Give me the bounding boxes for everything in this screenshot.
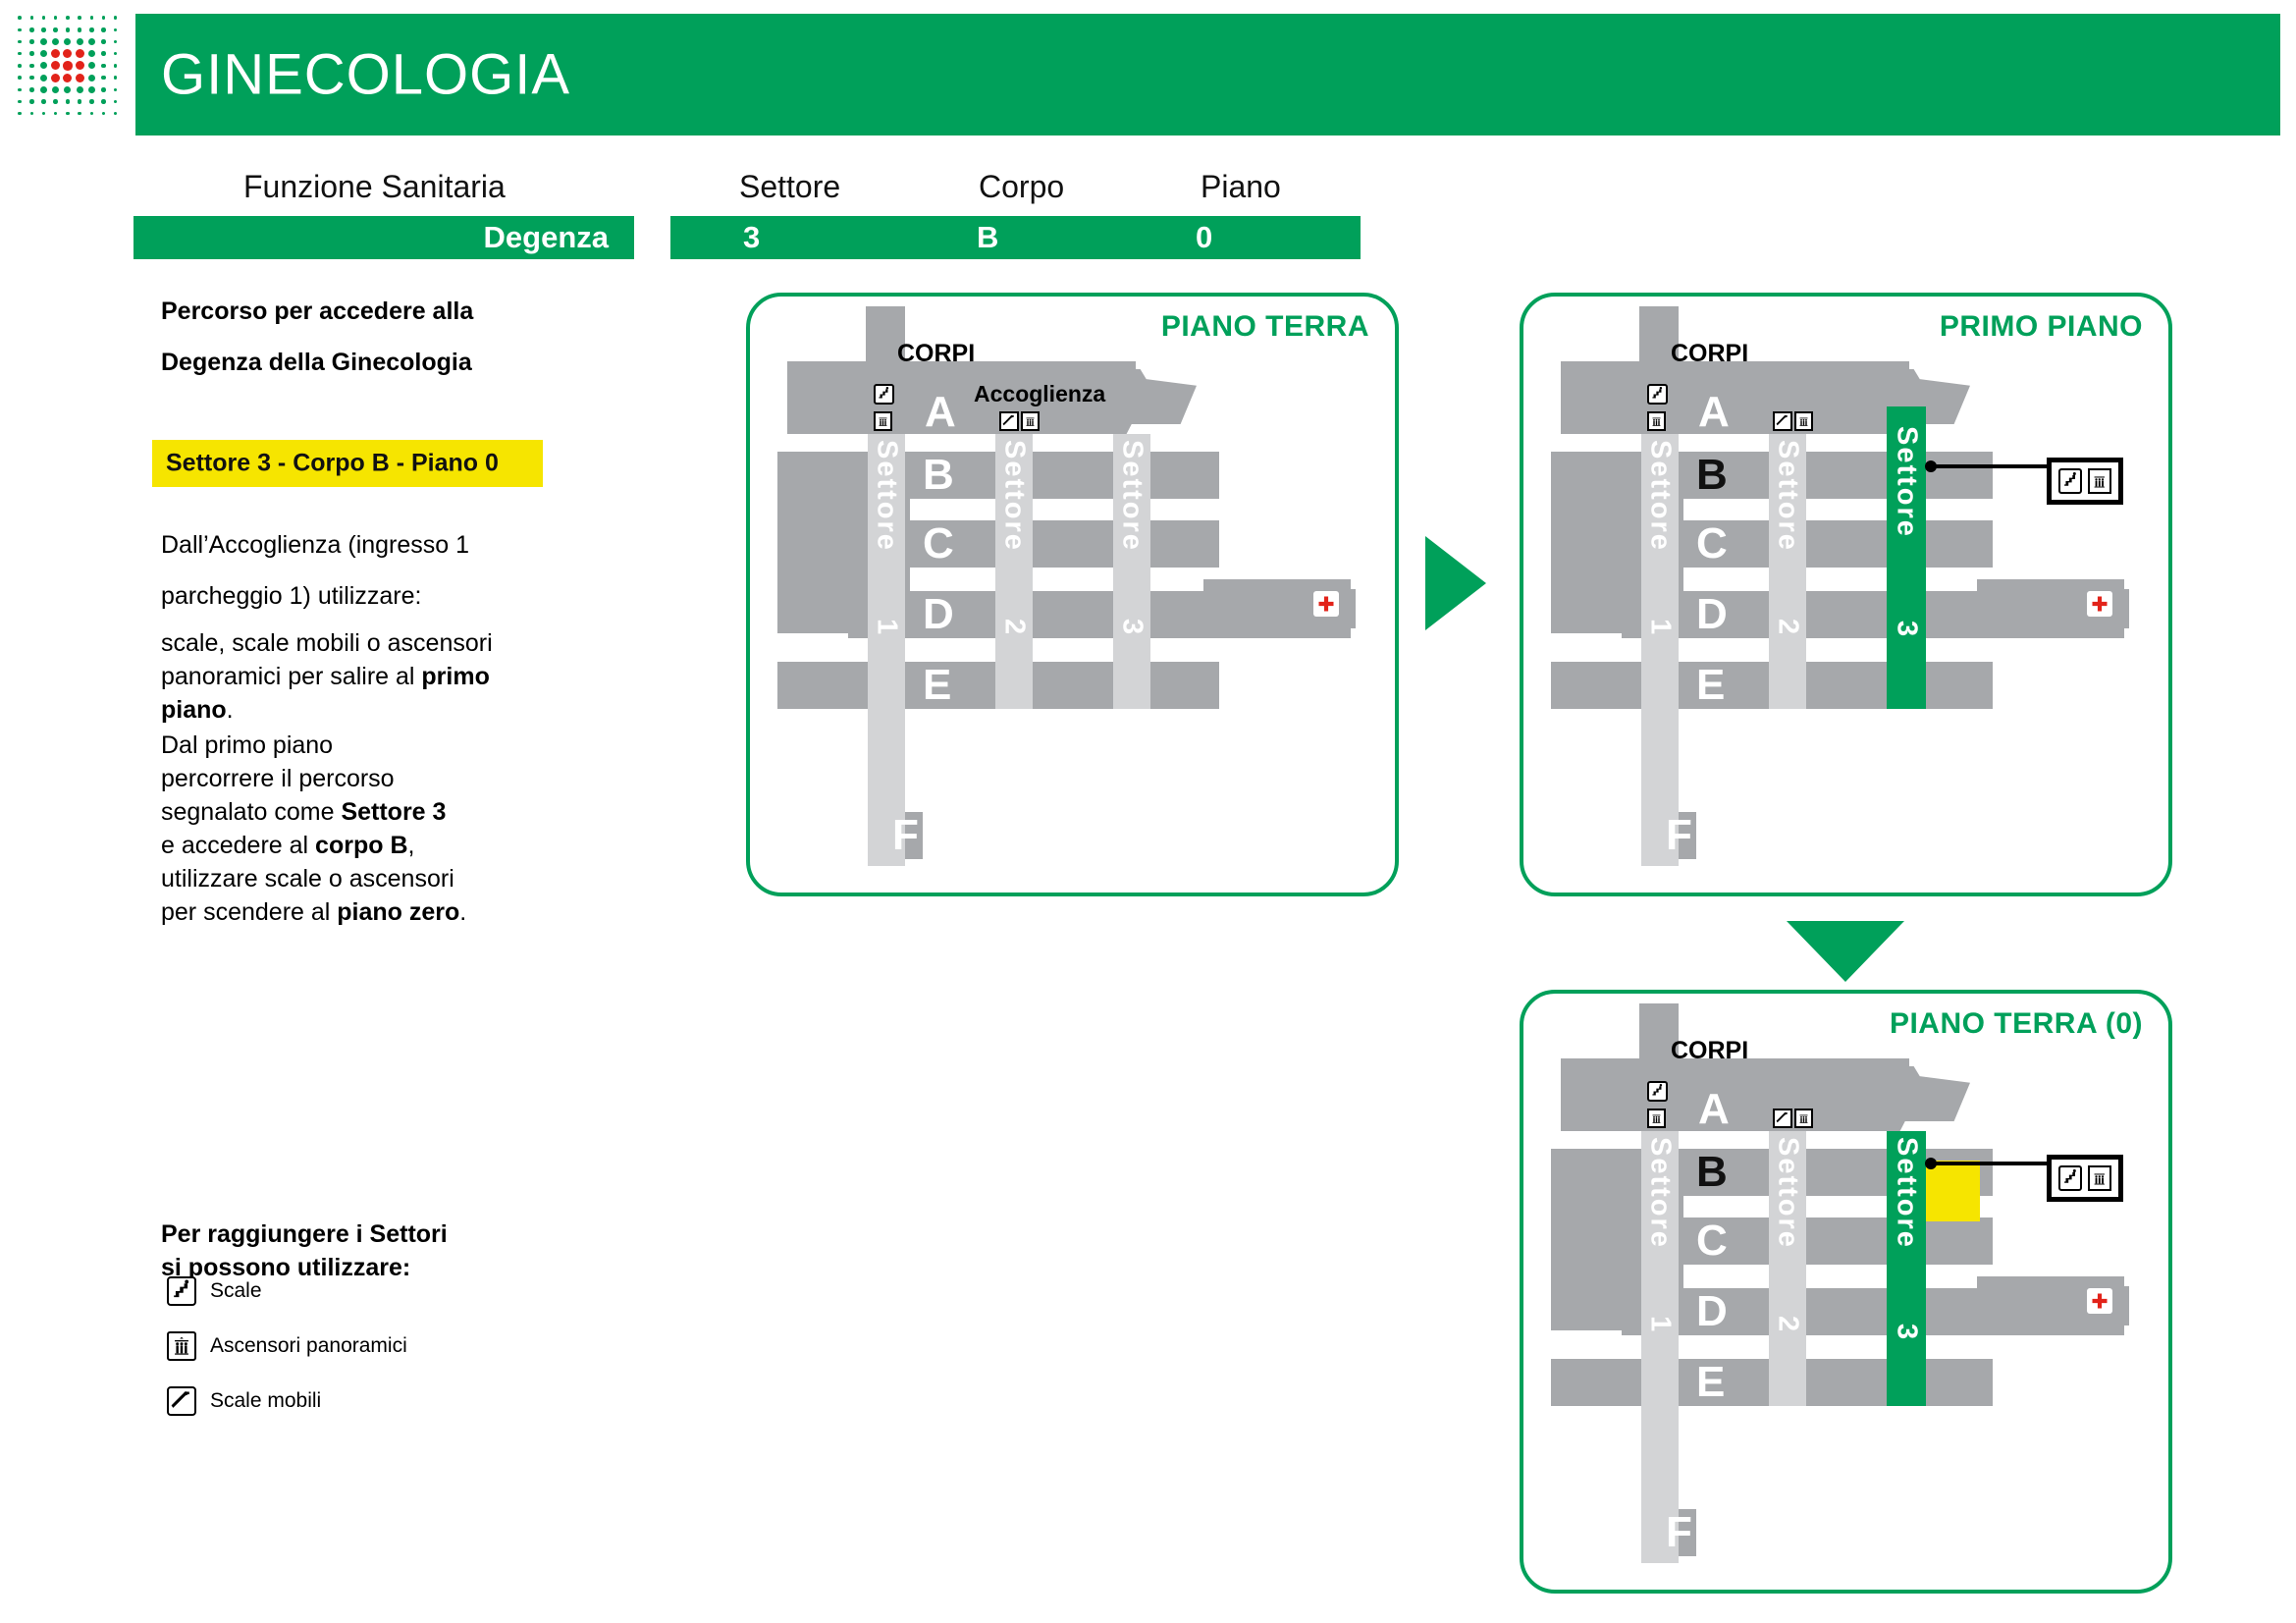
panel2-callout-line	[1931, 464, 2049, 468]
step2-line2: percorrere il percorso	[161, 762, 583, 795]
step1-bold-primo: primo	[421, 663, 489, 690]
panel1-body-d: D	[923, 593, 954, 636]
panel3-body-d: D	[1696, 1290, 1728, 1333]
panel2-callout-box[interactable]	[2047, 458, 2123, 505]
panel1-corpi-label: CORPI	[897, 340, 975, 368]
panel1-body-e: E	[923, 664, 951, 707]
step1-line3b: panoramici per salire al	[161, 663, 421, 690]
instruction-step-1: Dall’Accoglienza (ingresso 1 parcheggio …	[161, 528, 583, 727]
step2-line4: e accedere al corpo B,	[161, 829, 583, 862]
panoramic-elevator-icon	[2088, 1165, 2111, 1191]
panel3-corridor-2-num: 2	[1772, 1316, 1804, 1333]
panel1-body-a: A	[925, 391, 956, 434]
header-bar: GINECOLOGIA	[135, 14, 2280, 135]
panel2-corridor-2-label: Settore	[1772, 440, 1804, 552]
panel3-corridor-2-label: Settore	[1772, 1137, 1804, 1249]
piano-label: Piano	[1201, 169, 1281, 205]
panel3-corridor-3-active[interactable]: Settore 3	[1887, 1131, 1926, 1406]
map-panel-piano-terra[interactable]: PIANO TERRA CORPI Accoglienza A	[746, 293, 1399, 896]
panel2-corridor-2-num: 2	[1772, 619, 1804, 636]
panel3-elevator-icon-left	[1647, 1109, 1666, 1128]
panel2-elevator-icon-left	[1647, 411, 1666, 431]
panel1-body-c: C	[923, 522, 954, 566]
panel3-corpi-label: CORPI	[1671, 1037, 1748, 1065]
panel2-elevator-icon-right	[1794, 411, 1813, 431]
funzione-sanitaria-label: Funzione Sanitaria	[243, 169, 506, 205]
panel1-elevator-icon-left	[874, 411, 892, 431]
red-cross-icon	[1313, 591, 1339, 617]
panel2-body-b-active: B	[1696, 454, 1728, 497]
instruction-step-2: Dal primo piano percorrere il percorso s…	[161, 729, 583, 929]
settore-value: 3	[743, 220, 760, 255]
panel1-corridor-2[interactable]: Settore 2	[995, 434, 1033, 709]
panel3-escalator-icon-right	[1773, 1109, 1792, 1128]
panel3-corridor-3-label: Settore	[1891, 1137, 1923, 1249]
piano-value: 0	[1196, 220, 1212, 255]
panel1-corridor-3-label: Settore	[1116, 440, 1148, 552]
funzione-sanitaria-value: Degenza	[484, 220, 609, 255]
panel3-body-b-active: B	[1696, 1151, 1728, 1194]
map-panel-primo-piano[interactable]: PRIMO PIANO CORPI A Settor	[1520, 293, 2172, 896]
panel2-corridor-1-label: Settore	[1644, 440, 1677, 552]
panel3-body-f: F	[1666, 1511, 1692, 1554]
step1-line1: Dall’Accoglienza (ingresso 1	[161, 528, 583, 562]
panel1-elevator-icon-right	[1021, 411, 1040, 431]
panel1-corridor-1-label: Settore	[871, 440, 903, 552]
flow-arrow-down	[1787, 921, 1904, 982]
legend-heading-line1: Per raggiungere i Settori	[161, 1220, 448, 1249]
sidebar-heading-line1: Percorso per accedere alla	[161, 298, 473, 326]
panel1-escalator-icon-right	[999, 411, 1019, 431]
panel3-callout-box[interactable]	[2047, 1155, 2123, 1202]
panel2-corridor-2[interactable]: Settore 2	[1769, 434, 1806, 709]
panel1-floorplan: CORPI Accoglienza A Settore	[750, 297, 1395, 893]
step1-line5: piano.	[161, 693, 583, 727]
panel3-body-a: A	[1698, 1088, 1730, 1131]
panel1-corridor-1[interactable]: Settore 1	[868, 434, 905, 866]
stairs-icon	[2058, 1165, 2082, 1191]
panel2-body-d: D	[1696, 593, 1728, 636]
legend-item-scale: Scale	[167, 1276, 262, 1306]
map-panel-piano-terra-0[interactable]: PIANO TERRA (0) CORPI A	[1520, 990, 2172, 1594]
page-title: GINECOLOGIA	[161, 42, 570, 108]
legend-label-scale-mobili: Scale mobili	[210, 1389, 321, 1413]
panel3-corridor-2[interactable]: Settore 2	[1769, 1131, 1806, 1406]
red-cross-icon	[2087, 1288, 2112, 1314]
panel2-escalator-icon-right	[1773, 411, 1792, 431]
panel2-floorplan: CORPI A Settore 1 Settore	[1523, 297, 2168, 893]
step1-period: .	[227, 696, 234, 724]
settore-corpo-piano-chip: 3 B 0	[670, 216, 1361, 259]
step1-line2: parcheggio 1) utilizzare:	[161, 579, 583, 613]
step2-line6: per scendere al piano zero.	[161, 895, 583, 929]
step2-line5: utilizzare scale o ascensori	[161, 862, 583, 895]
panel1-stairs-icon-left	[874, 384, 894, 405]
panel2-corridor-3-label: Settore	[1891, 426, 1923, 538]
stairs-icon	[167, 1276, 196, 1306]
destination-highlight-badge: Settore 3 - Corpo B - Piano 0	[152, 440, 543, 487]
flow-arrow-right	[1425, 536, 1486, 630]
panel1-corridor-2-label: Settore	[998, 440, 1031, 552]
panel1-corridor-1-num: 1	[871, 619, 903, 636]
panel3-elevator-icon-right	[1794, 1109, 1813, 1128]
panel2-corridor-1-num: 1	[1644, 619, 1677, 636]
step2-line4-plain: e accedere al	[161, 832, 315, 859]
step2-bold-pianozero: piano zero	[337, 898, 459, 926]
corpo-label: Corpo	[979, 169, 1064, 205]
step2-line3-plain: segnalato come	[161, 798, 341, 826]
panel1-corridor-3-num: 3	[1116, 619, 1148, 636]
hospital-dot-logo	[14, 12, 124, 130]
panel3-corridor-1-label: Settore	[1644, 1137, 1677, 1249]
funzione-sanitaria-chip: Degenza	[133, 216, 634, 259]
step1-line3a: scale, scale mobili o ascensori	[161, 629, 493, 657]
panel1-body-f: F	[892, 814, 919, 857]
panel3-stairs-icon-left	[1647, 1081, 1668, 1102]
step1-line4: panoramici per salire al primo	[161, 660, 583, 693]
step2-line3: segnalato come Settore 3	[161, 795, 583, 829]
panel3-corridor-1-num: 1	[1644, 1316, 1677, 1333]
step2-bold-settore3: Settore 3	[341, 798, 446, 826]
panel3-floorplan: CORPI A Settore 1 Settore	[1523, 994, 2168, 1590]
settore-label: Settore	[739, 169, 840, 205]
panel1-accoglienza-label: Accoglienza	[974, 381, 1105, 407]
destination-highlight-text: Settore 3 - Corpo B - Piano 0	[166, 450, 499, 478]
panel2-body-e: E	[1696, 664, 1725, 707]
panel2-stairs-icon-left	[1647, 384, 1668, 405]
panel2-body-f: F	[1666, 814, 1692, 857]
step2-period: .	[459, 898, 466, 926]
legend-item-scale-mobili: Scale mobili	[167, 1386, 321, 1416]
legend-label-scale: Scale	[210, 1279, 262, 1303]
panoramic-elevator-icon	[167, 1331, 196, 1361]
panoramic-elevator-icon	[2088, 468, 2111, 494]
panel2-corpi-label: CORPI	[1671, 340, 1748, 368]
panel1-corridor-3[interactable]: Settore 3	[1113, 434, 1150, 709]
panel3-corridor-3-num: 3	[1891, 1324, 1923, 1341]
panel1-corridor-2-num: 2	[998, 619, 1031, 636]
corpo-value: B	[977, 220, 998, 255]
escalator-icon	[167, 1386, 196, 1416]
panel2-body-a: A	[1698, 391, 1730, 434]
step1-bold-piano: piano	[161, 696, 227, 724]
legend-label-ascensori: Ascensori panoramici	[210, 1334, 407, 1358]
panel3-callout-line	[1931, 1162, 2049, 1165]
destination-room-highlight[interactable]	[1925, 1161, 1980, 1221]
step2-line6-plain: per scendere al	[161, 898, 337, 926]
panel2-corridor-1[interactable]: Settore 1	[1641, 434, 1679, 866]
red-cross-icon	[2087, 591, 2112, 617]
stairs-icon	[2058, 468, 2082, 494]
sidebar-heading-line2: Degenza della Ginecologia	[161, 349, 472, 377]
panel3-body-e: E	[1696, 1361, 1725, 1404]
step2-comma: ,	[408, 832, 415, 859]
panel2-corridor-3-num: 3	[1891, 621, 1923, 638]
panel3-corridor-1[interactable]: Settore 1	[1641, 1131, 1679, 1563]
legend-item-ascensori: Ascensori panoramici	[167, 1331, 407, 1361]
step2-line1: Dal primo piano	[161, 729, 583, 762]
panel1-body-b: B	[923, 454, 954, 497]
panel2-corridor-3-active[interactable]: Settore 3	[1887, 406, 1926, 709]
step2-bold-corpob: corpo B	[315, 832, 407, 859]
step1-line3: scale, scale mobili o ascensori	[161, 626, 583, 660]
panel2-body-c: C	[1696, 522, 1728, 566]
panel3-body-c: C	[1696, 1219, 1728, 1263]
